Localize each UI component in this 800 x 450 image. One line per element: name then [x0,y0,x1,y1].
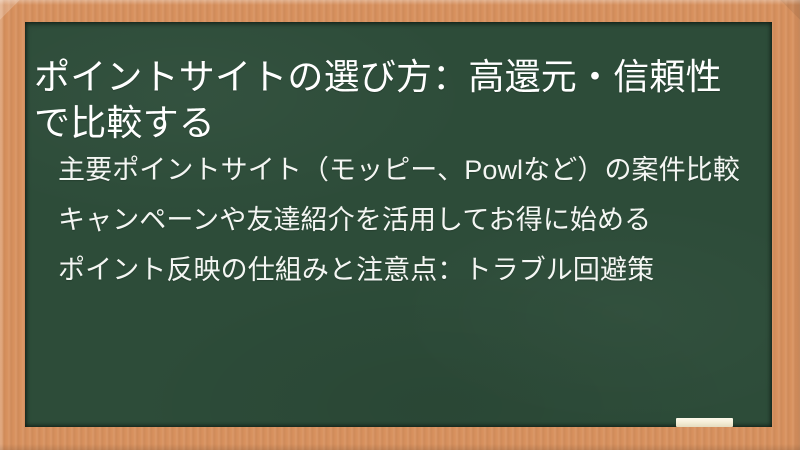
frame-bottom-shadow [0,444,800,450]
chalkboard-surface: ポイントサイトの選び方：高還元・信頼性で比較する 主要ポイントサイト（モッピー、… [25,22,772,427]
bullet-list: 主要ポイントサイト（モッピー、Powlなど）の案件比較 キャンペーンや友達紹介を… [58,152,758,289]
page-title: ポイントサイトの選び方：高還元・信頼性で比較する [34,54,756,146]
list-item: キャンペーンや友達紹介を活用してお得に始める [58,202,758,239]
frame-left-highlight [0,0,4,450]
list-item: 主要ポイントサイト（モッピー、Powlなど）の案件比較 [58,152,758,189]
chalkboard-slide: ポイントサイトの選び方：高還元・信頼性で比較する 主要ポイントサイト（モッピー、… [0,0,800,450]
list-item: ポイント反映の仕組みと注意点：トラブル回避策 [58,252,758,289]
chalk-icon [676,418,733,427]
frame-right-shadow [795,0,800,450]
frame-top-highlight [0,0,800,5]
